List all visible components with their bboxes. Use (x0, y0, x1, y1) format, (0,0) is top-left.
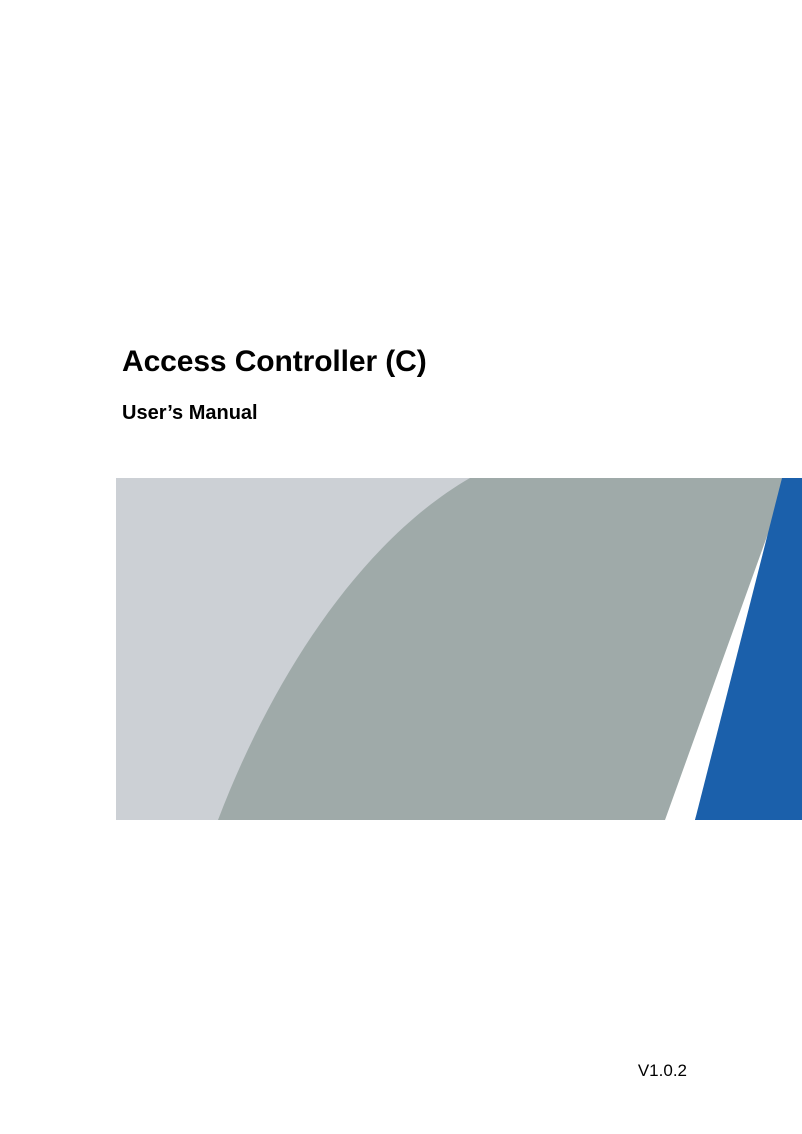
page-title: Access Controller (C) (122, 343, 722, 381)
version-line: V1.0.2 (0, 1060, 687, 1082)
cover-banner-graphic (116, 478, 802, 820)
version-text: V1.0.2 (638, 1061, 687, 1080)
title-block: Access Controller (C) User’s Manual (122, 343, 722, 426)
cover-page: Access Controller (C) User’s Manual V1.0… (0, 0, 802, 1134)
page-subtitle: User’s Manual (122, 381, 722, 426)
